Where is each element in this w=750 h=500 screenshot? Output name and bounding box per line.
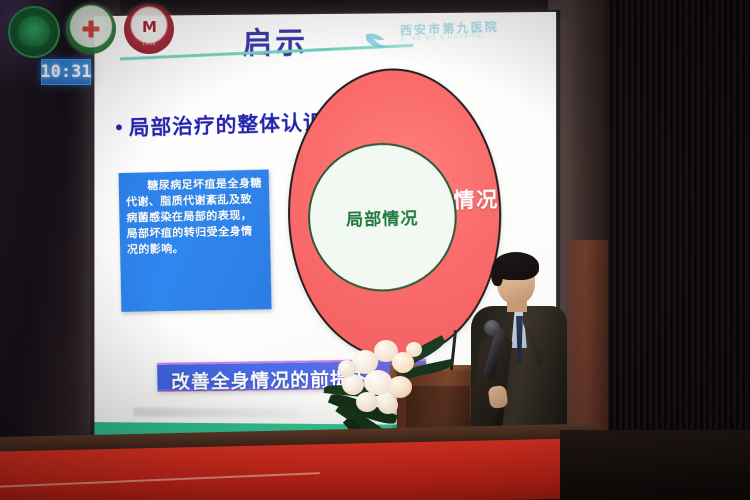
- seal-monogram: M: [142, 18, 156, 36]
- medical-cross-icon: [83, 21, 100, 38]
- speaker-hair-side: [491, 260, 503, 286]
- logo-banner: M 1950: [0, 0, 200, 70]
- slide-bullet: 局部治疗的整体认识: [116, 106, 326, 142]
- logo-green-wreath-icon: [8, 6, 60, 58]
- logo-central-hospital-icon: [66, 4, 116, 54]
- acoustic-slat-panel: [610, 0, 750, 500]
- wreath-glyph: [18, 16, 50, 48]
- seal-year: 1950: [142, 42, 156, 47]
- hospital-watermark-logo: 西安市第九医院 XI AN NO.9 HOSPITAL: [363, 15, 526, 56]
- floor-shadow-right: [560, 430, 750, 500]
- venn-inner-label: 局部情况: [310, 203, 455, 231]
- speaker-hand: [488, 385, 509, 409]
- bullet-label: 局部治疗的整体认识: [128, 106, 325, 142]
- bullet-dot-icon: [116, 124, 122, 130]
- clock-time: 10:31: [40, 62, 91, 82]
- bird-icon: [364, 29, 399, 52]
- blue-box-paragraph: 糖尿病足坏疽是全身糖代谢、脂质代谢紊乱及致病菌感染在局部的表现，局部坏疽的转归受…: [126, 176, 264, 258]
- blue-text-box: 糖尿病足坏疽是全身糖代谢、脂质代谢紊乱及致病菌感染在局部的表现，局部坏疽的转归受…: [119, 170, 272, 312]
- digital-clock: 10:31: [41, 59, 91, 85]
- photo-scene: 启示 西安市第九医院 XI AN NO.9 HOSPITAL 局部治疗的整体认识…: [0, 0, 750, 500]
- slide-title: 启示: [242, 18, 308, 62]
- venn-inner-circle: 局部情况: [307, 141, 459, 293]
- logo-red-seal-icon: M 1950: [124, 4, 174, 54]
- slide-footer-text: [134, 408, 302, 418]
